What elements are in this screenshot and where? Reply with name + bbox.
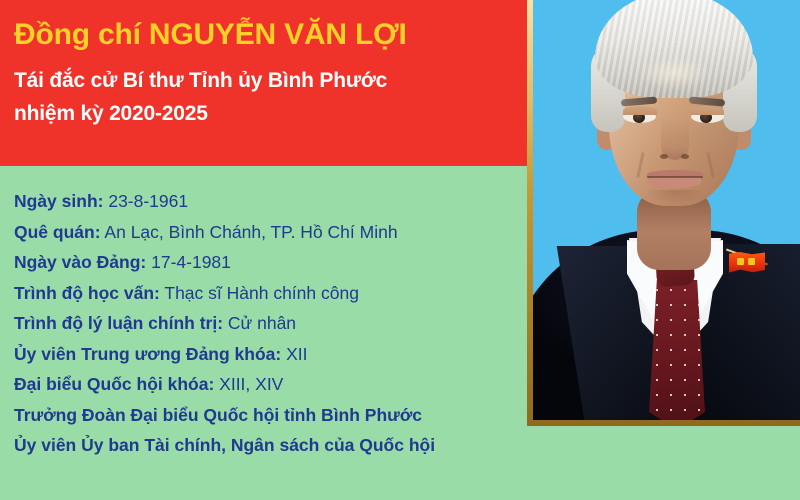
biography-list: Ngày sinh: 23-8-1961 Quê quán: An Lạc, B… [14, 186, 524, 461]
info-value: 23-8-1961 [103, 191, 188, 211]
subtitle-line-1: Tái đắc cử Bí thư Tỉnh ủy Bình Phước [14, 64, 519, 97]
info-row-national-assembly: Đại biểu Quốc hội khóa: XIII, XIV [14, 369, 524, 400]
info-row-party-join-date: Ngày vào Đảng: 17-4-1981 [14, 247, 524, 278]
header-subtitle: Tái đắc cử Bí thư Tỉnh ủy Bình Phước nhi… [14, 64, 519, 130]
info-label: Trưởng Đoàn Đại biểu Quốc hội tỉnh Bình … [14, 405, 422, 425]
eyelid-left [623, 106, 657, 115]
info-row-education: Trình độ học vấn: Thạc sĩ Hành chính côn… [14, 278, 524, 309]
info-label: Ủy viên Ủy ban Tài chính, Ngân sách của … [14, 435, 435, 455]
page-title: Đồng chí NGUYỄN VĂN LỢI [14, 16, 514, 54]
info-label: Trình độ học vấn: [14, 283, 160, 303]
portrait-photo [533, 0, 800, 420]
info-label: Quê quán: [14, 222, 101, 242]
info-row-birthdate: Ngày sinh: 23-8-1961 [14, 186, 524, 217]
info-label: Trình độ lý luận chính trị: [14, 313, 223, 333]
forehead-highlight [637, 56, 711, 90]
info-value: 17-4-1981 [146, 252, 231, 272]
subtitle-line-2: nhiệm kỳ 2020-2025 [14, 97, 519, 130]
pin-emblem-left [737, 258, 744, 265]
biography-panel: Ngày sinh: 23-8-1961 Quê quán: An Lạc, B… [0, 166, 527, 500]
nostril-left [660, 154, 668, 159]
mouth-line [647, 176, 703, 178]
info-value: Thạc sĩ Hành chính công [160, 283, 359, 303]
header-banner: Đồng chí NGUYỄN VĂN LỢI Tái đắc cử Bí th… [0, 0, 527, 166]
info-row-political-theory: Trình độ lý luận chính trị: Cử nhân [14, 308, 524, 339]
necktie [649, 280, 705, 420]
eyelid-right [690, 106, 724, 115]
info-value: XII [281, 344, 307, 364]
info-label: Ủy viên Trung ương Đảng khóa: [14, 344, 281, 364]
chin-shading [647, 190, 703, 204]
info-label: Ngày vào Đảng: [14, 252, 146, 272]
nostril-right [681, 154, 689, 159]
portrait-photo-frame [527, 0, 800, 426]
info-label: Đại biểu Quốc hội khóa: [14, 374, 214, 394]
info-row-delegation-head: Trưởng Đoàn Đại biểu Quốc hội tỉnh Bình … [14, 400, 524, 431]
info-row-central-committee: Ủy viên Trung ương Đảng khóa: XII [14, 339, 524, 370]
info-row-hometown: Quê quán: An Lạc, Bình Chánh, TP. Hồ Chí… [14, 217, 524, 248]
info-value: An Lạc, Bình Chánh, TP. Hồ Chí Minh [101, 222, 398, 242]
info-row-finance-committee: Ủy viên Ủy ban Tài chính, Ngân sách của … [14, 430, 524, 461]
info-value: XIII, XIV [214, 374, 283, 394]
infographic-poster: Đồng chí NGUYỄN VĂN LỢI Tái đắc cử Bí th… [0, 0, 800, 500]
party-flag-pin-icon [729, 252, 765, 274]
info-value: Cử nhân [223, 313, 296, 333]
pin-emblem-right [748, 258, 755, 265]
lower-lip [649, 177, 701, 188]
info-label: Ngày sinh: [14, 191, 103, 211]
